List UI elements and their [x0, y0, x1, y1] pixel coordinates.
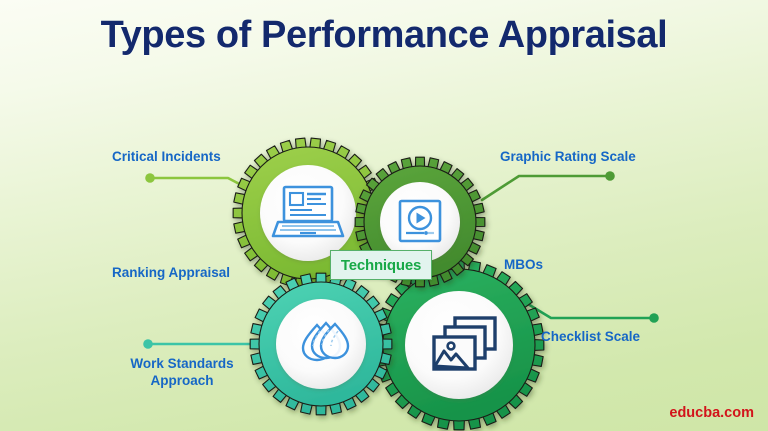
connector-dot-left: [143, 339, 153, 349]
techniques-badge: Techniques: [330, 250, 432, 280]
connector-checklist-scale: [518, 298, 659, 323]
connector-dot-right: [649, 313, 659, 323]
laptop-document-icon: [273, 187, 343, 236]
connector-graphic-rating-scale: [482, 171, 615, 200]
label-mbos: MBOs: [504, 256, 543, 273]
label-graphic-rating-scale: Graphic Rating Scale: [500, 148, 636, 165]
label-critical-incidents: Critical Incidents: [112, 148, 221, 165]
video-player-icon: [400, 201, 440, 241]
label-checklist-scale: Checklist Scale: [541, 328, 640, 345]
brand-watermark: educba.com: [669, 405, 754, 421]
infographic-canvas: Types of Performance Appraisal: [0, 0, 768, 431]
techniques-badge-label: Techniques: [341, 257, 421, 274]
connector-dot-right: [605, 171, 615, 181]
label-work-standards-line1: Work Standards: [130, 356, 233, 371]
gear-diagram: [0, 0, 768, 431]
connector-dot-left: [145, 173, 155, 183]
label-work-standards-approach: Work Standards Approach: [118, 355, 246, 389]
label-work-standards-line2: Approach: [150, 373, 213, 388]
label-ranking-appraisal: Ranking Appraisal: [112, 264, 230, 281]
